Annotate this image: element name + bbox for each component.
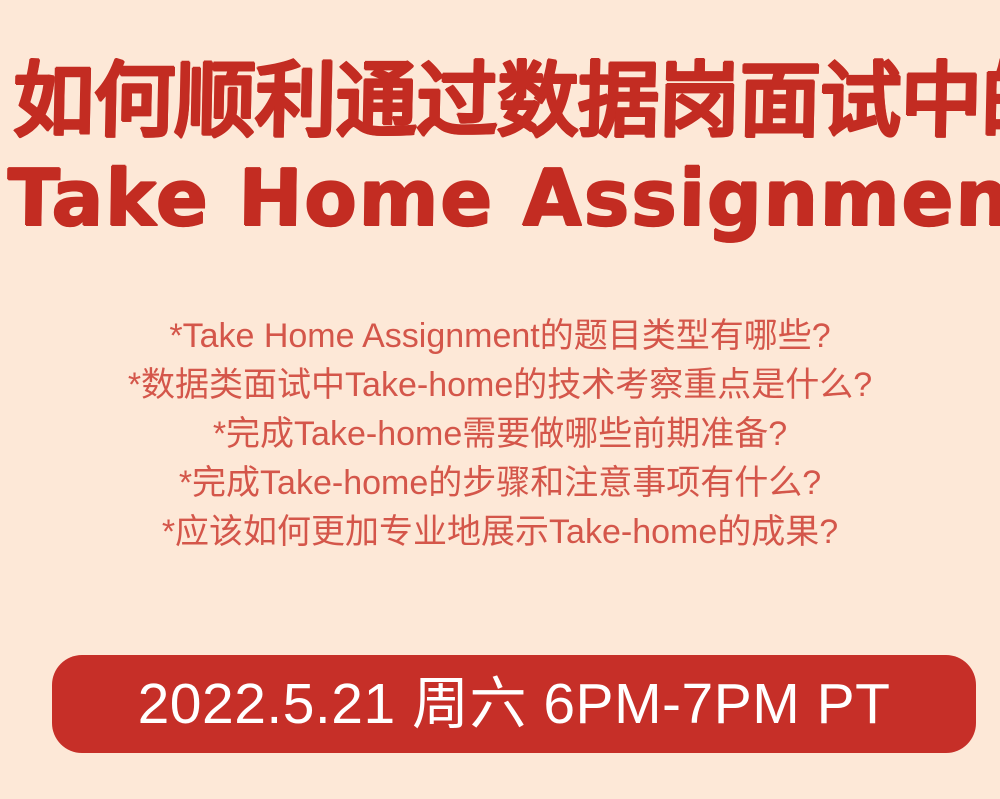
- question-item: *完成Take-home的步骤和注意事项有什么?: [0, 459, 1000, 508]
- date-time-banner: 2022.5.21 周六 6PM-7PM PT: [52, 655, 976, 753]
- event-poster: 如何顺利通过数据岗面试中的 Take Home Assignment测试 *Ta…: [0, 0, 1000, 799]
- date-time-text: 2022.5.21 周六 6PM-7PM PT: [138, 676, 891, 733]
- question-item: *完成Take-home需要做哪些前期准备?: [0, 410, 1000, 459]
- question-item: *数据类面试中Take-home的技术考察重点是什么?: [0, 361, 1000, 410]
- question-item: *Take Home Assignment的题目类型有哪些?: [0, 312, 1000, 361]
- poster-title: 如何顺利通过数据岗面试中的 Take Home Assignment测试: [0, 58, 1000, 258]
- question-item: *应该如何更加专业地展示Take-home的成果?: [0, 508, 1000, 557]
- question-list: *Take Home Assignment的题目类型有哪些? *数据类面试中Ta…: [0, 312, 1000, 557]
- title-line-chinese: 如何顺利通过数据岗面试中的: [12, 60, 1000, 144]
- title-line-english: Take Home Assignment测试: [7, 160, 1000, 240]
